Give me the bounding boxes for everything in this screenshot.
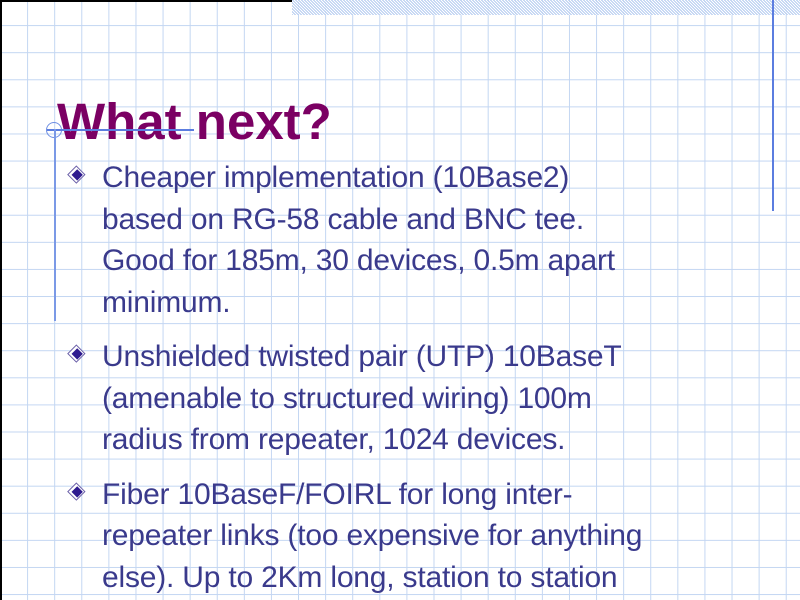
list-item-text: Unshielded twisted pair (UTP) 10BaseT (a… (102, 336, 783, 461)
title-accent-horizontal-rule (47, 129, 194, 131)
presentation-slide: What next? Cheaper implementation (10Bas… (0, 0, 800, 600)
bullet-list: Cheaper implementation (10Base2) based o… (68, 157, 783, 600)
list-item: Unshielded twisted pair (UTP) 10BaseT (a… (68, 336, 783, 461)
diamond-bullet-icon (70, 168, 88, 186)
diamond-bullet-icon (70, 347, 88, 365)
slide-left-border (0, 0, 2, 600)
slide-title: What next? (57, 94, 332, 150)
list-item-text: Fiber 10BaseF/FOIRL for long inter- repe… (102, 474, 783, 599)
dithered-header-band (292, 0, 800, 15)
title-accent-vertical-rule (54, 129, 56, 321)
slide-top-border (0, 0, 292, 2)
diamond-bullet-icon (70, 485, 88, 503)
list-item-text: Cheaper implementation (10Base2) based o… (102, 157, 783, 323)
list-item: Fiber 10BaseF/FOIRL for long inter- repe… (68, 474, 783, 599)
list-item: Cheaper implementation (10Base2) based o… (68, 157, 783, 323)
